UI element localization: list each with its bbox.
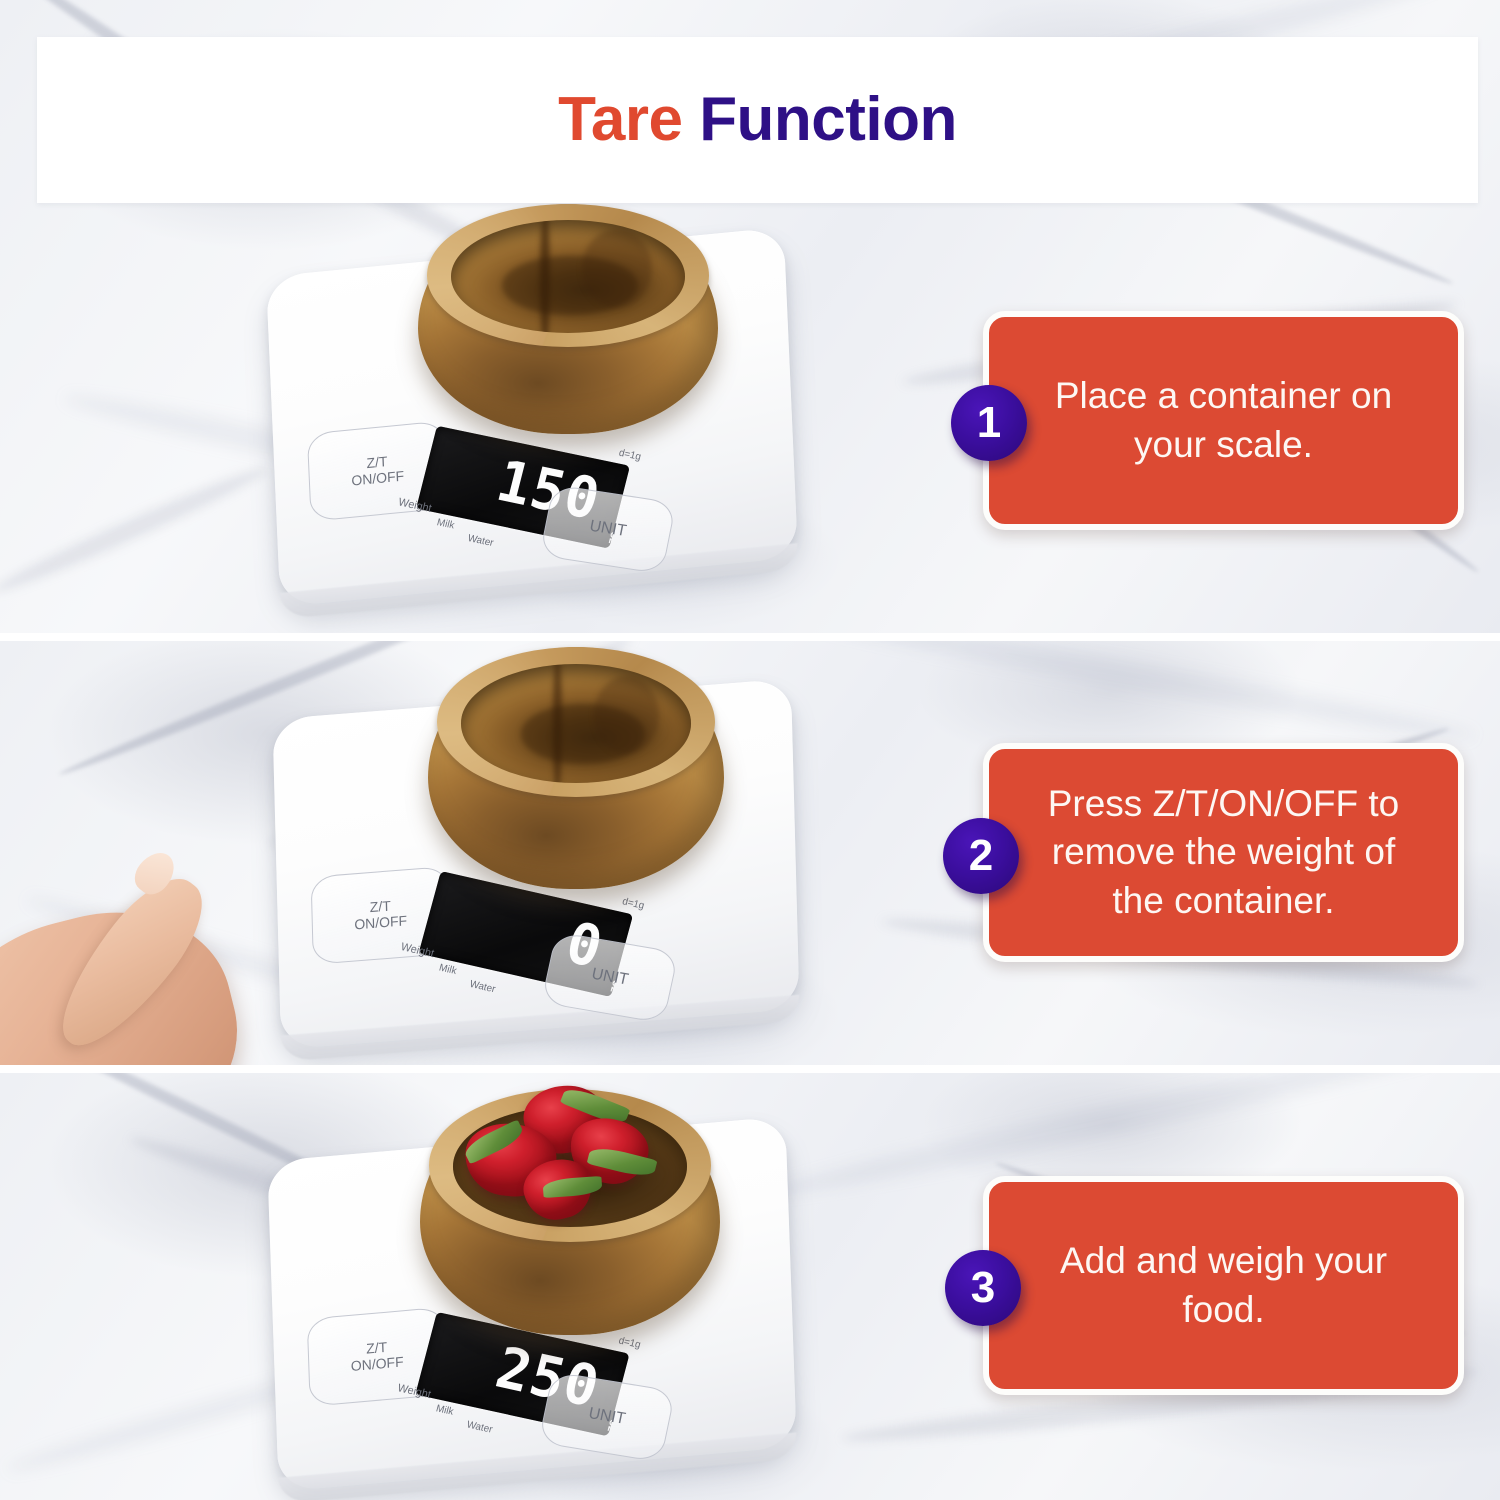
mode-label-water-2: Water [468,979,496,996]
callout-text-1: Place a container on your scale. [989,372,1458,468]
kitchen-scale-3: Z/T ON/OFF MAX=5000g d=1g 250 oz Weight … [272,1139,792,1479]
unit-button-label-1: UNIT [588,518,628,541]
wooden-bowl-3 [420,1089,720,1335]
wooden-bowl-2 [428,647,724,889]
unit-button-label-2: UNIT [590,966,630,990]
title-word-tare: Tare [558,85,682,154]
panel-divider-2 [0,1065,1500,1073]
division-label-1: d=1g [618,448,642,463]
callout-step-1: Place a container on your scale. [983,311,1464,530]
callout-text-2: Press Z/T/ON/OFF to remove the weight of… [989,780,1458,924]
unit-button-3[interactable]: UNIT [538,1371,676,1462]
panel-divider-1 [0,633,1500,641]
wooden-bowl-1 [418,204,718,434]
title-banner: Tare Function [37,37,1478,203]
title-word-function: Function [699,85,957,154]
division-label-2: d=1g [621,896,646,912]
kitchen-scale-1: Z/T ON/OFF MAX=5000g d=1g 150 oz Weight … [272,252,792,592]
tare-button-label-line2-3: ON/OFF [351,1354,404,1374]
bowl-interior-2 [461,664,692,783]
strawberries-group [456,1104,684,1232]
step-number-2: 2 [969,831,993,881]
infographic-canvas: Z/T ON/OFF MAX=5000g d=1g 150 oz Weight … [0,0,1500,1500]
mode-label-milk-1: Milk [436,517,456,531]
bowl-interior-1 [451,220,685,333]
step-badge-2: 2 [943,818,1019,894]
tare-button-label-line2: ON/OFF [351,469,404,490]
step-badge-1: 1 [951,385,1027,461]
page-title: Tare Function [558,89,957,151]
step-number-3: 3 [971,1263,995,1313]
callout-step-2: Press Z/T/ON/OFF to remove the weight of… [983,743,1464,962]
step-badge-3: 3 [945,1250,1021,1326]
scale-edge-3 [278,1432,797,1500]
callout-text-3: Add and weigh your food. [989,1237,1458,1333]
kitchen-scale-2: Z/T ON/OFF MAX=5000g d=1g 0 oz Weight Mi… [276,699,796,1039]
unit-button-2[interactable]: UNIT [541,931,679,1023]
mode-label-water-3: Water [465,1419,493,1435]
scale-edge-1 [280,543,799,619]
unit-button-1[interactable]: UNIT [539,484,676,574]
mode-label-water-1: Water [467,533,495,549]
hand-pressing-tare-button [0,827,446,1065]
division-label-3: d=1g [617,1335,642,1351]
mode-label-milk-3: Milk [435,1403,455,1418]
callout-step-3: Add and weigh your food. [983,1176,1464,1395]
step-number-1: 1 [977,398,1001,448]
unit-button-label-3: UNIT [587,1405,627,1429]
